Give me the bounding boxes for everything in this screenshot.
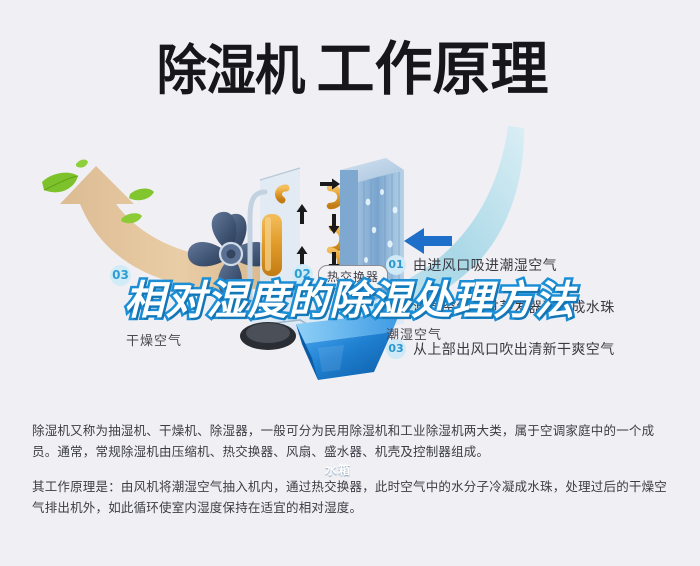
intake-arrow-icon bbox=[404, 228, 452, 254]
body-paragraph-2: 其工作原理是：由风机将潮湿空气抽入机内，通过热交换器，此时空气中的水分子冷凝成水… bbox=[32, 476, 672, 518]
legend-item: 02 潮湿空气经过蒸发器冷凝成水珠 bbox=[386, 297, 615, 317]
body-paragraph-1: 除湿机又称为抽湿机、干燥机、除湿器，一般可分为民用除湿机和工业除湿机两大类，属于… bbox=[32, 420, 672, 462]
legend-badge: 03 bbox=[386, 339, 406, 359]
body-copy: 除湿机又称为抽湿机、干燥机、除湿器，一般可分为民用除湿机和工业除湿机两大类，属于… bbox=[32, 420, 672, 532]
page-title-part1: 除湿机 bbox=[157, 26, 305, 105]
legend-text: 由进风口吸进潮湿空气 bbox=[413, 255, 557, 275]
legend-text: 潮湿空气经过蒸发器冷凝成水珠 bbox=[413, 297, 615, 317]
unit-foot bbox=[240, 322, 296, 350]
water-tank-shape bbox=[296, 312, 400, 380]
dry-air-label: 干燥空气 bbox=[126, 330, 182, 349]
diagram-badge-02: 02 bbox=[292, 264, 313, 285]
page-title: 除湿机工作原理 bbox=[0, 22, 700, 106]
legend-badge: 01 bbox=[386, 255, 406, 275]
callout-pointer bbox=[340, 284, 350, 293]
diagram-badge-03: 03 bbox=[110, 265, 131, 286]
legend-text: 从上部出风口吹出清新干爽空气 bbox=[413, 339, 615, 359]
legend-list: 01 由进风口吸进潮湿空气 02 潮湿空气经过蒸发器冷凝成水珠 03 从上部出风… bbox=[386, 255, 615, 381]
legend-badge: 02 bbox=[386, 297, 406, 317]
infographic-page: 除湿机工作原理 bbox=[0, 0, 700, 566]
legend-item: 03 从上部出风口吹出清新干爽空气 bbox=[386, 339, 615, 359]
heat-exchanger-callout: 热交换器 bbox=[318, 265, 388, 289]
page-title-part2: 工作原理 bbox=[316, 22, 548, 106]
legend-item: 01 由进风口吸进潮湿空气 bbox=[386, 255, 615, 275]
compressor-shape bbox=[262, 214, 282, 276]
